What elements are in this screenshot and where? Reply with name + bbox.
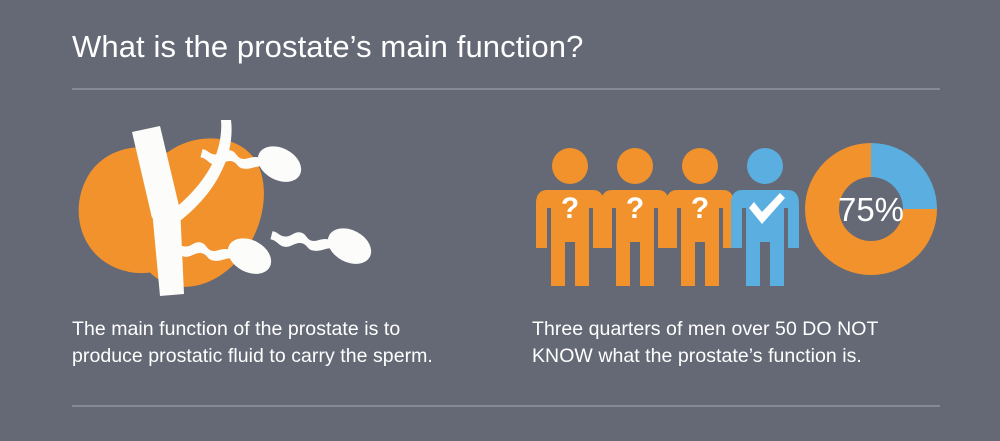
left-caption-line-1: The main function of the prostate is to <box>72 316 482 343</box>
sperm-cell <box>268 197 377 285</box>
donut-center-label: 75% <box>838 191 904 228</box>
divider-top <box>72 88 940 90</box>
left-caption-line-2: produce prostatic fluid to carry the spe… <box>72 343 482 370</box>
person-icon-1: ? <box>536 148 604 286</box>
person-icon-2: ? <box>601 148 669 286</box>
right-caption-line-2: KNOW what the prostate’s function is. <box>532 343 952 370</box>
page-title: What is the prostate’s main function? <box>72 29 583 65</box>
person-icon-4 <box>731 148 799 286</box>
statistic-illustration: ? ? ? <box>525 138 955 308</box>
infographic-page: What is the prostate’s main function? <box>0 0 1000 441</box>
prostate-illustration <box>68 118 428 308</box>
question-mark-icon: ? <box>626 192 644 225</box>
divider-bottom <box>72 405 940 407</box>
question-mark-icon: ? <box>691 192 709 225</box>
person-icon-3: ? <box>666 148 734 286</box>
right-caption-line-1: Three quarters of men over 50 DO NOT <box>532 316 952 343</box>
question-mark-icon: ? <box>561 192 579 225</box>
donut-chart: 75% <box>805 143 937 275</box>
right-caption: Three quarters of men over 50 DO NOT KNO… <box>532 316 952 370</box>
left-caption: The main function of the prostate is to … <box>72 316 482 370</box>
